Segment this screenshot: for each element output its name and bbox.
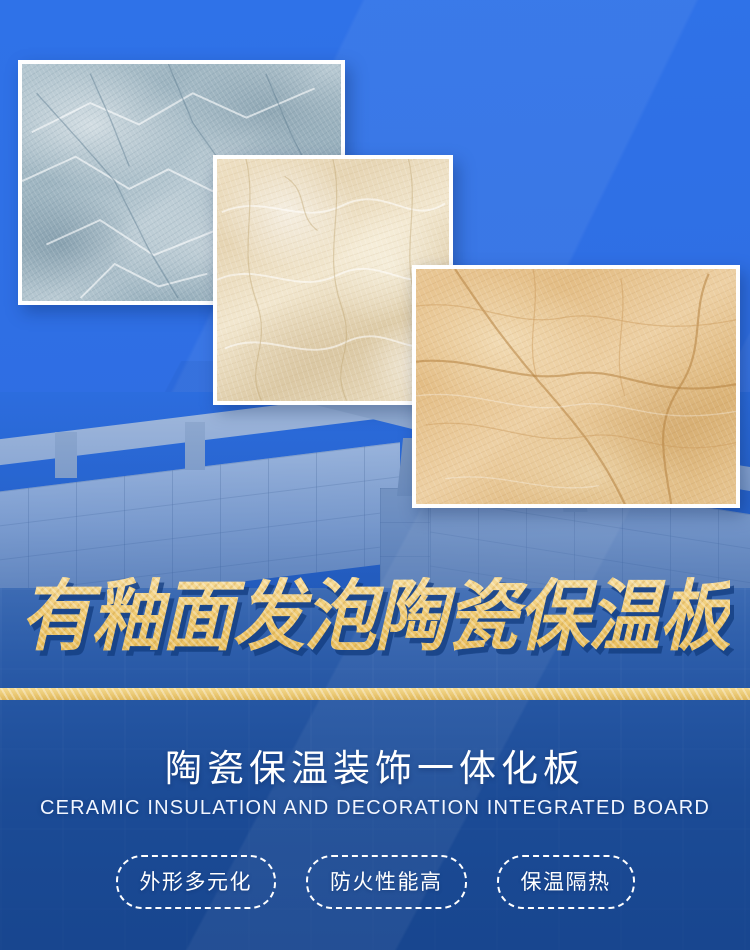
subtitle-english: CERAMIC INSULATION AND DECORATION INTEGR… [0, 797, 750, 820]
product-banner: 有釉面发泡陶瓷保温板 陶瓷保温装饰一体化板 CERAMIC INSULATION… [0, 0, 750, 950]
tile-3-vein-lines [416, 269, 736, 506]
feature-pill-thermal-insulation[interactable]: 保温隔热 [497, 855, 635, 909]
gold-divider [0, 688, 750, 700]
feature-pill-shape-variety[interactable]: 外形多元化 [116, 855, 277, 909]
subtitle-chinese: 陶瓷保温装饰一体化板 [0, 738, 750, 792]
page-title: 有釉面发泡陶瓷保温板 [20, 577, 730, 655]
title-band: 有釉面发泡陶瓷保温板 [0, 556, 750, 676]
feature-pill-fire-resistance[interactable]: 防火性能高 [306, 855, 467, 909]
feature-pill-row: 外形多元化 防火性能高 保温隔热 [0, 855, 750, 909]
tile-sample-tan-marble [412, 265, 740, 508]
